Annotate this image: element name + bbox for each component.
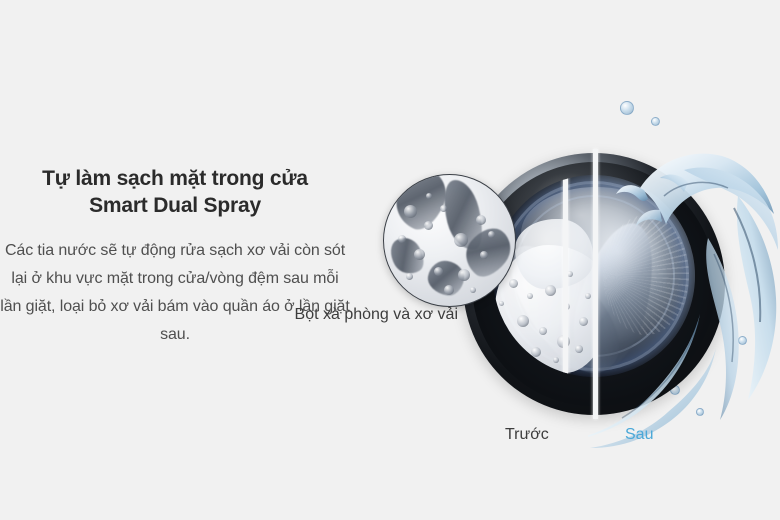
magnified-bubble (434, 267, 443, 276)
magnified-bubble (424, 221, 433, 230)
foam-callout-label: Bọt xà phòng và xơ vải (250, 303, 458, 326)
magnified-bubble (470, 287, 476, 293)
water-filament (734, 208, 760, 322)
drum-split-divider (563, 175, 568, 377)
before-after-split-divider (593, 149, 598, 419)
magnified-bubble (454, 233, 468, 247)
washing-machine-door-image (463, 153, 725, 415)
water-droplet (651, 117, 660, 126)
magnified-bubble (404, 205, 417, 218)
magnified-bubble (488, 231, 495, 238)
water-droplet (620, 101, 634, 115)
product-feature-banner: Tự làm sạch mặt trong cửa Smart Dual Spr… (0, 0, 780, 520)
magnified-bubble (458, 269, 470, 281)
feature-body-text: Các tia nước sẽ tự động rửa sạch xơ vải … (0, 237, 350, 349)
magnified-bubble (398, 235, 406, 243)
water-droplet (738, 336, 747, 345)
magnified-bubble (440, 205, 447, 212)
magnified-bubble (426, 193, 432, 199)
magnified-bubble (406, 273, 413, 280)
feature-headline-line2: Smart Dual Spray (0, 192, 350, 219)
feature-headline-line1: Tự làm sạch mặt trong cửa (0, 165, 350, 192)
magnified-foam-inset (383, 174, 516, 307)
label-after: Sau (625, 426, 653, 444)
magnified-bubble (476, 215, 486, 225)
magnified-bubble (480, 251, 488, 259)
magnified-bubble (414, 249, 425, 260)
water-cascade-right (737, 196, 776, 400)
magnified-bubble (444, 285, 454, 295)
label-before: Trước (505, 426, 549, 444)
